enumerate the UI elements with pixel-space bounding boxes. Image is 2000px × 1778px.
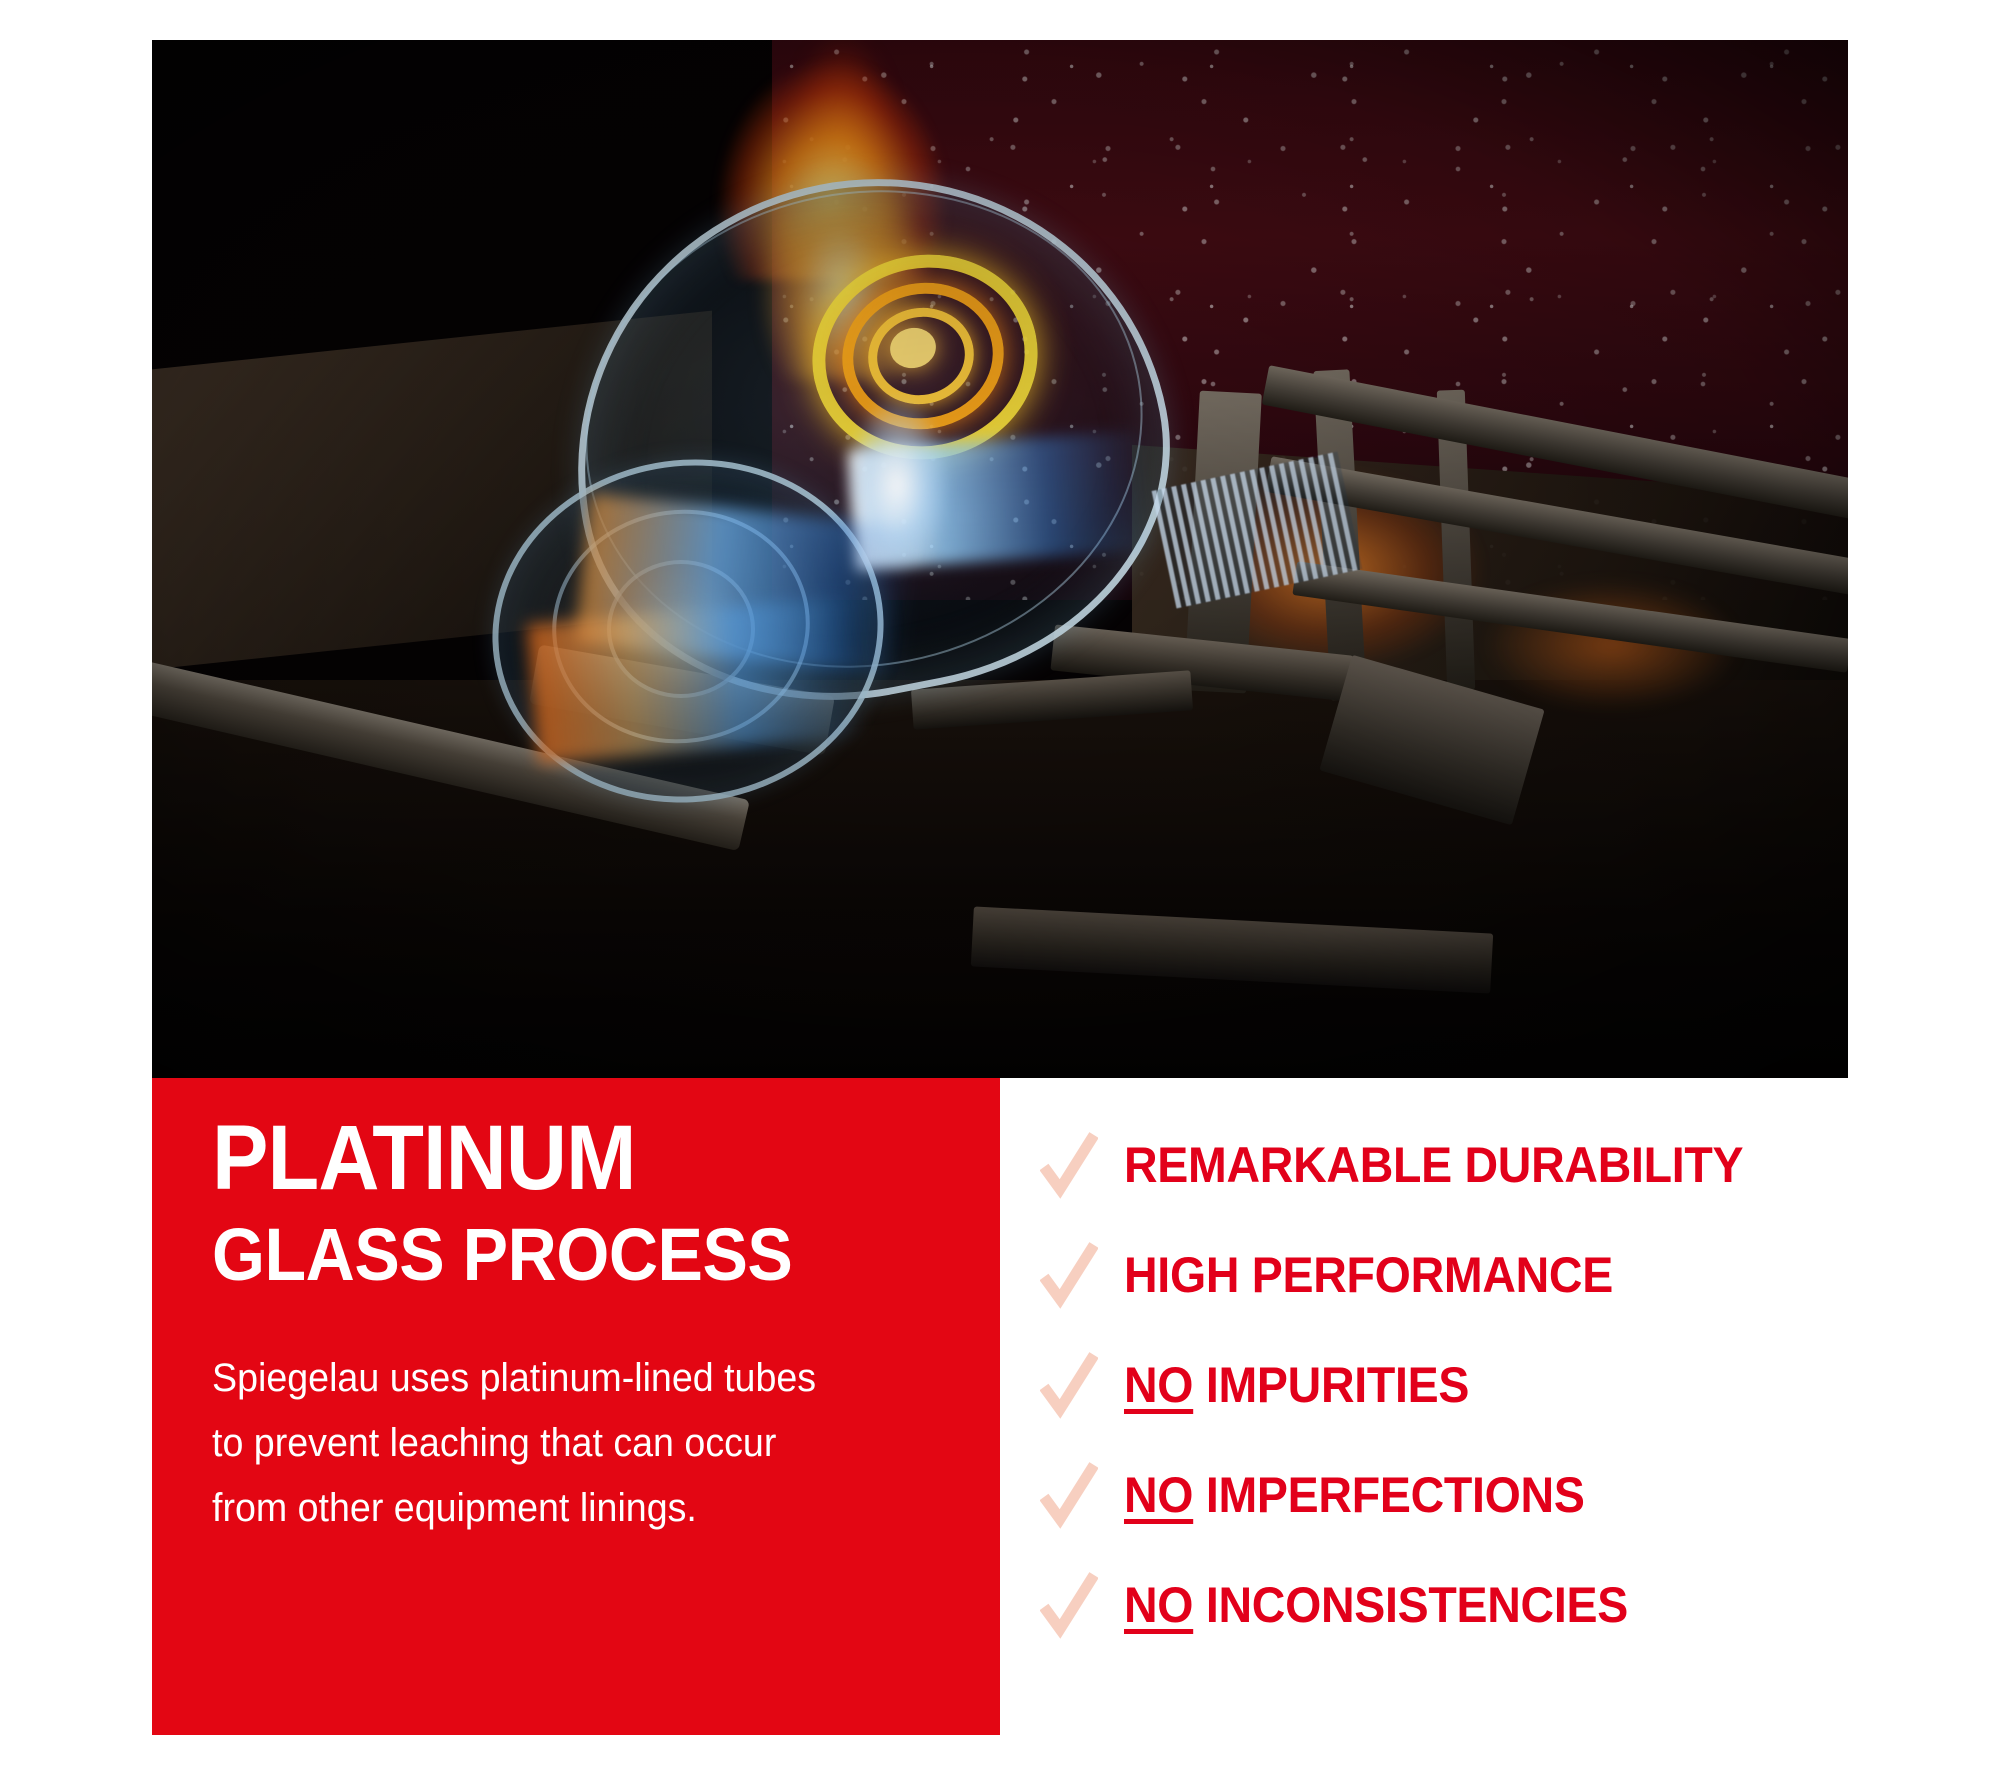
benefits-checklist: REMARKABLE DURABILITY HIGH PERFORMANCE N… [1040,1110,1940,1660]
panel-body-line-2: to prevent leaching that can occur [212,1411,832,1476]
checklist-item-text-4: NO INCONSISTENCIES [1124,1580,1628,1630]
red-info-panel: PLATINUM GLASS PROCESS Spiegelau uses pl… [152,1078,1000,1735]
list-item: NO IMPERFECTIONS [1040,1440,1940,1550]
checklist-item-label-0: REMARKABLE DURABILITY [1124,1137,1743,1193]
panel-body-line-1: Spiegelau uses platinum-lined tubes [212,1346,832,1411]
list-item: NO IMPURITIES [1040,1330,1940,1440]
panel-title-line1: PLATINUM [212,1112,636,1204]
checklist-item-text-1: HIGH PERFORMANCE [1124,1250,1613,1300]
list-item: NO INCONSISTENCIES [1040,1550,1940,1660]
checklist-item-text-0: REMARKABLE DURABILITY [1124,1140,1743,1190]
check-icon [1040,1129,1098,1201]
torch-jet-core [812,370,982,600]
check-icon [1040,1569,1098,1641]
checklist-item-label-1: HIGH PERFORMANCE [1124,1247,1613,1303]
checklist-item-prefix-4: NO [1124,1577,1193,1633]
torch-jet [527,596,868,764]
checklist-item-label-3: IMPERFECTIONS [1206,1467,1585,1523]
check-icon [1040,1239,1098,1311]
list-item: REMARKABLE DURABILITY [1040,1110,1940,1220]
checklist-item-label-2: IMPURITIES [1206,1357,1469,1413]
checklist-item-label-4: INCONSISTENCIES [1206,1577,1628,1633]
checklist-item-text-2: NO IMPURITIES [1124,1360,1469,1410]
list-item: HIGH PERFORMANCE [1040,1220,1940,1330]
page-root: PLATINUM GLASS PROCESS Spiegelau uses pl… [0,0,2000,1778]
panel-title-line2: GLASS PROCESS [212,1218,792,1292]
panel-body-text: Spiegelau uses platinum-lined tubes to p… [212,1346,832,1540]
check-icon [1040,1459,1098,1531]
checklist-item-prefix-3: NO [1124,1467,1193,1523]
check-icon [1040,1349,1098,1421]
checklist-item-text-3: NO IMPERFECTIONS [1124,1470,1585,1520]
checklist-item-prefix-2: NO [1124,1357,1193,1413]
glassblowing-photo [152,40,1848,1078]
panel-body-line-3: from other equipment linings. [212,1476,832,1541]
